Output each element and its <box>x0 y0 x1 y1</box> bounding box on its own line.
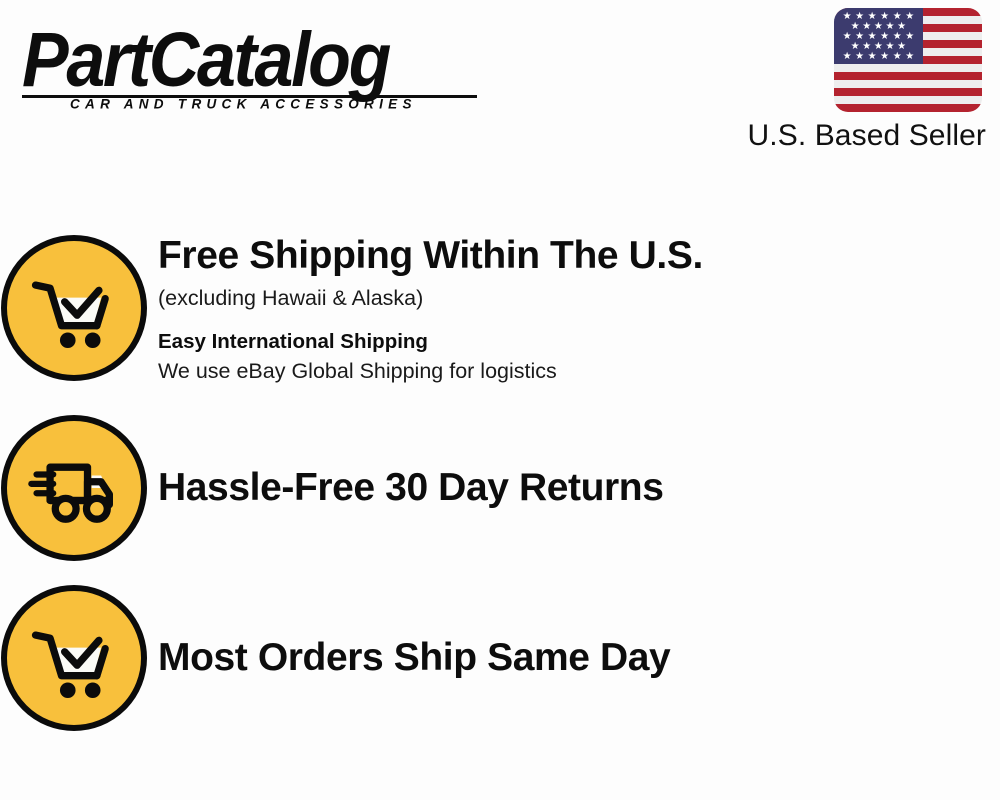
feature-title: Hassle-Free 30 Day Returns <box>158 467 1000 509</box>
feature-title: Most Orders Ship Same Day <box>158 637 1000 679</box>
feature-icon-wrap <box>0 235 148 381</box>
flag-stars: ★★★★★★ ★★★★★ ★★★★★★ ★★★★★ ★★★★★★ <box>834 8 923 64</box>
feature-icon-wrap <box>0 415 148 561</box>
delivery-truck-icon <box>1 415 147 561</box>
brand-tagline: CAR AND TRUCK ACCESSORIES <box>70 96 502 112</box>
us-flag-icon: ★★★★★★ ★★★★★ ★★★★★★ ★★★★★ ★★★★★★ <box>834 8 982 112</box>
feature-row: Most Orders Ship Same Day <box>0 585 1000 731</box>
logo-underline-rule <box>22 95 477 98</box>
feature-text-block: Free Shipping Within The U.S. (excluding… <box>148 235 1000 386</box>
feature-row: Free Shipping Within The U.S. (excluding… <box>0 235 1000 386</box>
feature-text-block: Most Orders Ship Same Day <box>148 637 1000 679</box>
shopping-cart-check-icon <box>1 235 147 381</box>
feature-title: Free Shipping Within The U.S. <box>158 235 1000 277</box>
feature-secondary-subtitle: We use eBay Global Shipping for logistic… <box>158 358 1000 386</box>
shopping-cart-check-icon <box>1 585 147 731</box>
feature-secondary-title: Easy International Shipping <box>158 329 1000 356</box>
feature-row: Hassle-Free 30 Day Returns <box>0 415 1000 561</box>
us-based-seller-label: U.S. Based Seller <box>700 119 986 153</box>
feature-icon-wrap <box>0 585 148 731</box>
seller-banner: PartCatalog CAR AND TRUCK ACCESSORIES <box>0 0 1000 800</box>
banner-header: PartCatalog CAR AND TRUCK ACCESSORIES <box>0 0 1000 175</box>
us-based-seller-block: ★★★★★★ ★★★★★ ★★★★★★ ★★★★★ ★★★★★★ <box>700 8 990 153</box>
flag-star-row: ★★★★★★ <box>839 52 918 62</box>
feature-text-block: Hassle-Free 30 Day Returns <box>148 467 1000 509</box>
feature-subtitle: (excluding Hawaii & Alaska) <box>158 285 1000 313</box>
brand-wordmark: PartCatalog <box>22 22 531 97</box>
